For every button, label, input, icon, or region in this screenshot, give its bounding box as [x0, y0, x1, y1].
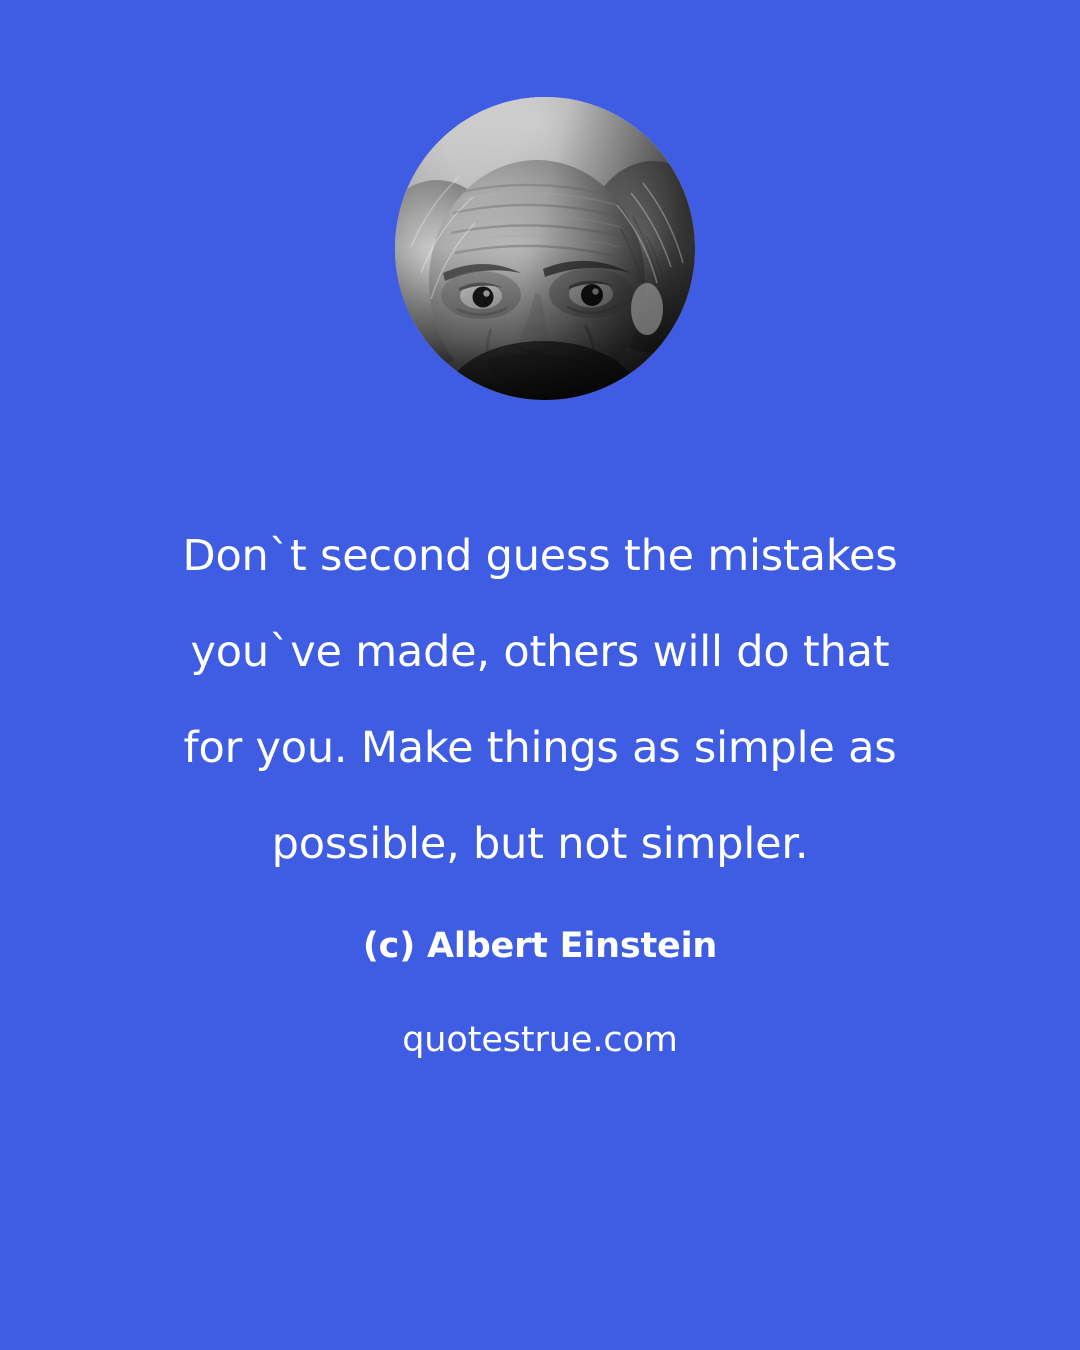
attribution: (c) Albert Einstein quotestrue.com	[0, 920, 1080, 1066]
albert-einstein-portrait	[395, 97, 695, 400]
source-website[interactable]: quotestrue.com	[0, 1014, 1080, 1066]
quote-line-2: you`ve made, others will do that	[0, 604, 1080, 700]
quote-line-1: Don`t second guess the mistakes	[0, 508, 1080, 604]
quote-line-3: for you. Make things as simple as	[0, 700, 1080, 796]
quote-text: Don`t second guess the mistakes you`ve m…	[0, 508, 1080, 892]
quote-author: (c) Albert Einstein	[0, 920, 1080, 972]
portrait-image	[395, 97, 695, 400]
quote-card: Don`t second guess the mistakes you`ve m…	[0, 0, 1080, 1350]
quote-line-4: possible, but not simpler.	[0, 796, 1080, 892]
